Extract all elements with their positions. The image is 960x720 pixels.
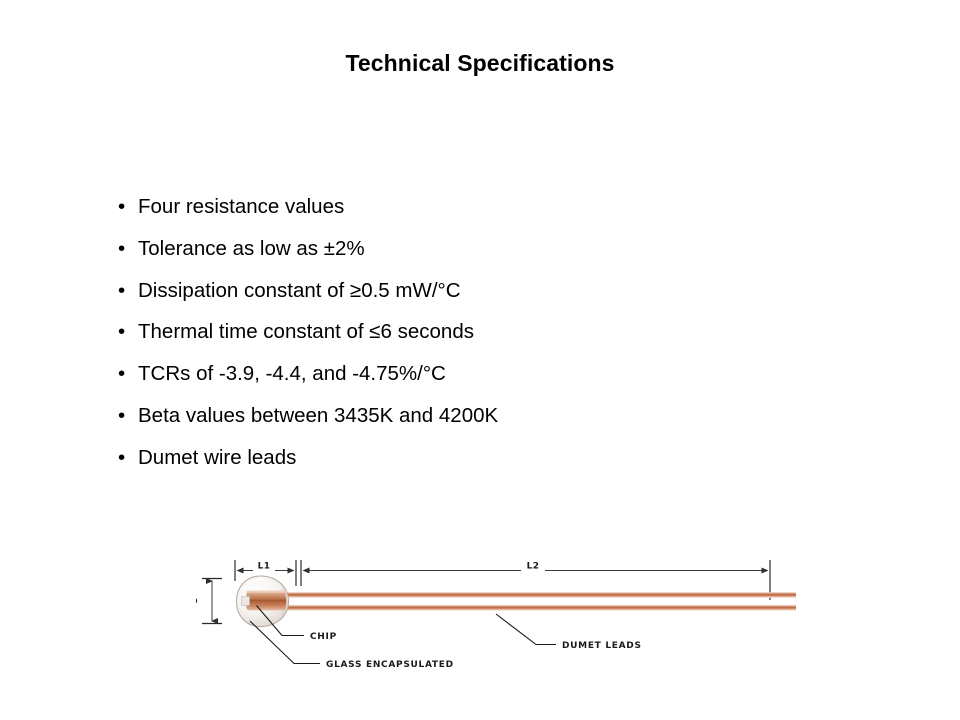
dimension-d: D — [196, 579, 222, 624]
list-item: • Beta values between 3435K and 4200K — [114, 395, 754, 437]
list-item-label: Thermal time constant of ≤6 seconds — [138, 320, 474, 343]
list-item: • Thermal time constant of ≤6 seconds — [114, 311, 754, 353]
callout-dumet-leads-label: DUMET LEADS — [562, 641, 642, 651]
list-item: • TCRs of -3.9, -4.4, and -4.75%/°C — [114, 353, 754, 395]
dumet-leads — [251, 592, 796, 610]
bullet-marker-icon: • — [118, 228, 125, 270]
bullet-marker-icon: • — [118, 353, 125, 395]
bullet-marker-icon: • — [118, 186, 125, 228]
list-item: • Dumet wire leads — [114, 437, 754, 479]
specifications-bullet-list: • Four resistance values • Tolerance as … — [114, 186, 754, 479]
list-item-label: Dissipation constant of ≥0.5 mW/°C — [138, 279, 461, 302]
bullet-marker-icon: • — [118, 395, 125, 437]
bullet-marker-icon: • — [118, 437, 125, 479]
thermistor-diagram: D L1 L2 — [196, 548, 796, 683]
list-item-label: TCRs of -3.9, -4.4, and -4.75%/°C — [138, 362, 446, 385]
list-item-label: Tolerance as low as ±2% — [138, 237, 365, 260]
page-title: Technical Specifications — [0, 50, 960, 77]
list-item: • Four resistance values — [114, 186, 754, 228]
callout-glass-encapsulated: GLASS ENCAPSULATED — [250, 621, 454, 670]
bullet-marker-icon: • — [118, 270, 125, 312]
dimension-l1-label: L1 — [258, 562, 271, 572]
chip-element — [247, 591, 287, 611]
dimension-l2-label: L2 — [527, 562, 540, 572]
list-item: • Dissipation constant of ≥0.5 mW/°C — [114, 270, 754, 312]
callout-dumet-leads: DUMET LEADS — [496, 614, 642, 651]
callout-glass-label: GLASS ENCAPSULATED — [326, 660, 454, 670]
list-item-label: Four resistance values — [138, 195, 344, 218]
glass-bead — [237, 576, 289, 627]
bullet-marker-icon: • — [118, 311, 125, 353]
list-item: • Tolerance as low as ±2% — [114, 228, 754, 270]
dimension-d-label: D — [196, 597, 198, 607]
list-item-label: Dumet wire leads — [138, 446, 296, 469]
callout-chip-label: CHIP — [310, 632, 337, 642]
list-item-label: Beta values between 3435K and 4200K — [138, 404, 498, 427]
